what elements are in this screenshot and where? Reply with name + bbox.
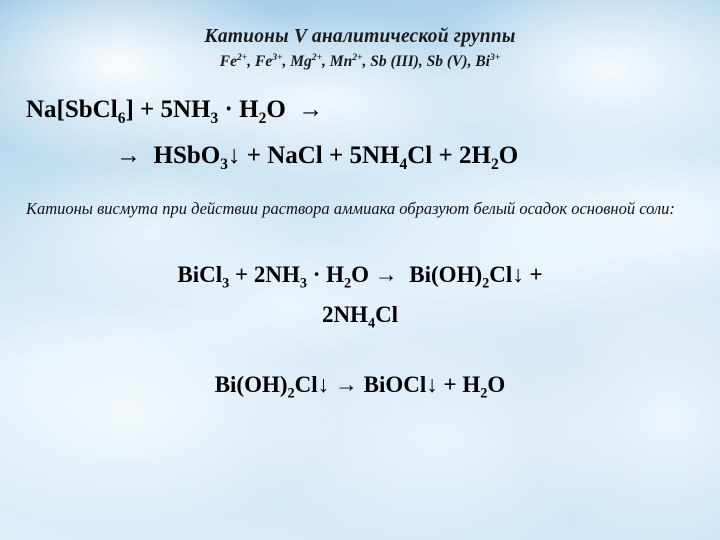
cation-fe3: Fe3+ <box>255 53 282 70</box>
cation-mg2: Mg2+ <box>290 53 322 70</box>
cation-sb5-roman: Sb (V) <box>427 53 468 70</box>
slide-title: Катионы V аналитической группы <box>0 26 720 48</box>
cation-sep: , <box>247 53 255 70</box>
slide-canvas: Катионы V аналитической группы Fe2+, Fe3… <box>0 0 720 540</box>
slide-subtitle: Fe2+, Fe3+, Mg2+, Mn2+, Sb (III), Sb (V)… <box>0 53 720 71</box>
equation-1-line-1: Na[SbCl6] + 5NH3 · H2O → <box>26 96 323 124</box>
cation-mn2: Mn2+ <box>330 53 363 70</box>
equation-2-line-1: BiCl3 + 2NH3 · H2O → Bi(OH)2Cl↓ + <box>0 262 720 288</box>
slide-content: Катионы V аналитической группы Fe2+, Fe3… <box>0 0 720 540</box>
slide-title-block: Катионы V аналитической группы Fe2+, Fe3… <box>0 26 720 71</box>
equation-2-line-2: 2NH4Cl <box>0 302 720 328</box>
precipitate-arrow-icon: ↓ <box>228 142 241 169</box>
cation-sep: , <box>322 53 330 70</box>
equation-3: Bi(OH)2Cl↓ → BiOCl↓ + H2O <box>0 372 720 398</box>
precipitate-arrow-icon: ↓ <box>318 372 330 397</box>
cation-sep: , <box>419 53 427 70</box>
cation-fe2: Fe2+ <box>220 53 247 70</box>
cation-sb3-roman: Sb (III) <box>370 53 419 70</box>
explanatory-note: Катионы висмута при действии раствора ам… <box>26 198 698 220</box>
cation-bi3: Bi3+ <box>475 53 500 70</box>
precipitate-arrow-icon: ↓ <box>512 262 524 287</box>
equation-1-line-2: → HSbO3↓ + NaCl + 5NH4Cl + 2H2O <box>116 142 518 170</box>
precipitate-arrow-icon: ↓ <box>426 372 438 397</box>
